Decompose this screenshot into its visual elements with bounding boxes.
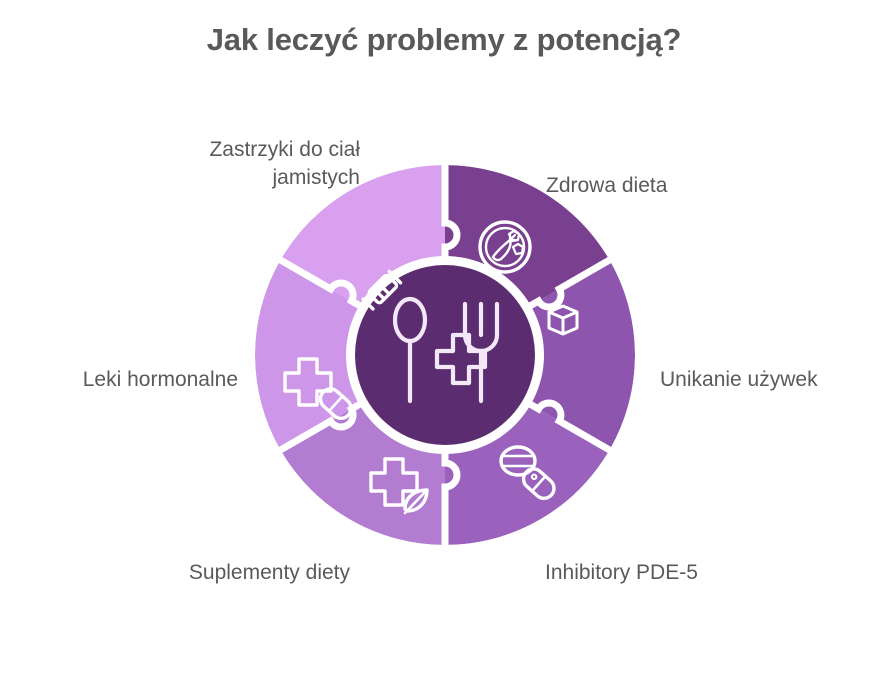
segment-label-injections[interactable]: Zastrzyki do ciał jamistych [60,136,360,191]
center-hub[interactable] [355,265,535,445]
segment-label-pde5[interactable]: Inhibitory PDE-5 [545,559,845,587]
segment-label-diet[interactable]: Zdrowa dieta [546,172,866,200]
segment-label-stimulants[interactable]: Unikanie używek [660,366,888,394]
page-title: Jak leczyć problemy z potencją? [0,22,888,58]
infographic-canvas: Jak leczyć problemy z potencją? [0,0,888,698]
puzzle-wheel [255,165,635,545]
segment-label-supplements[interactable]: Suplementy diety [60,559,350,587]
segment-label-hormonal[interactable]: Leki hormonalne [0,366,238,394]
